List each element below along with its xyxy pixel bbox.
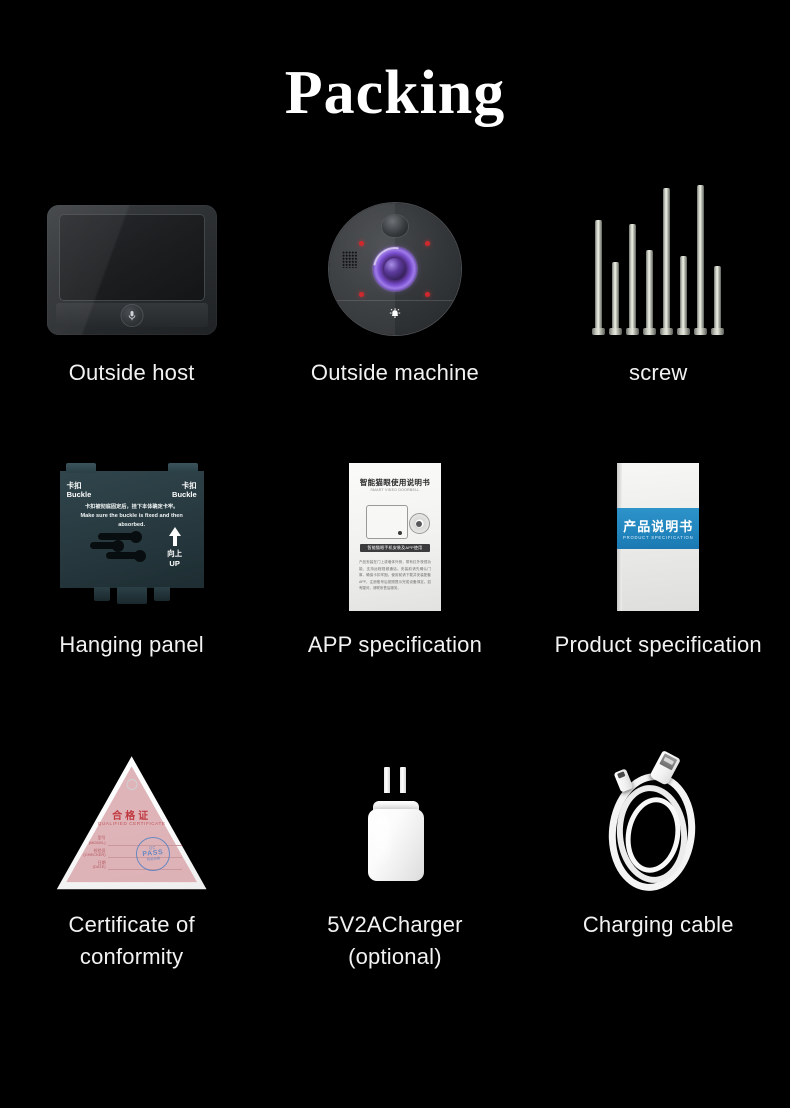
spec-booklet-icon: 产品说明书 PRODUCT SPECIFICATION [617,463,699,611]
certificate-title-cn: 合格证 [54,807,210,822]
up-arrow-icon [169,527,181,536]
item-product-specification: 产品说明书 PRODUCT SPECIFICATION Product spec… [527,436,790,660]
keyhole-slots [90,531,156,563]
app-specification-art: 智能猫眼使用说明书 SMART VIDEO DOORBELL 智能猫眼手机安装及… [280,436,510,611]
monitor-display [60,215,204,300]
booklet-title: 智能猫眼使用说明书 [349,477,441,488]
item-screw: screw [527,160,790,388]
item-caption: 5V2ACharger (optional) [327,909,463,971]
up-label: 向上 UP [160,549,190,568]
mounting-bracket-icon: 卡扣 Buckle 卡扣 Buckle 卡扣被彻底固定后，挂下本体确定卡牢。 M… [52,461,212,611]
item-caption: Outside host [69,357,195,388]
outside-host-art [17,160,247,335]
stamp-cn-text: 检验合格 [146,858,160,863]
grid-row-2: 卡扣 Buckle 卡扣 Buckle 卡扣被彻底固定后，挂下本体确定卡牢。 M… [0,436,790,660]
booklet-title-en: PRODUCT SPECIFICATION [617,535,699,540]
buckle-label-right: 卡扣 Buckle [172,481,197,499]
item-caption: Product specification [555,629,762,660]
certificate-field-label: 型号 (MODEL) [82,836,108,845]
bracket-tab [66,463,96,473]
charging-cable-art [543,718,773,893]
booklet-title-band: 产品说明书 PRODUCT SPECIFICATION [617,508,699,549]
camera-diagram-icon [409,513,430,534]
usb-cable-icon [583,743,733,893]
charger-prong [400,767,406,793]
booklet-body-text: 产品安装在门上或墙体外侧，带有红外夜视功能，支持远程视频通话。安装前请先确认门厚… [359,559,431,591]
certificate-field-label: 检验员 (CHECKER) [82,849,108,858]
keyhole-slot [106,552,142,559]
device-diagram-icon [366,505,408,539]
item-caption: Certificate of conformity [69,909,195,971]
grid-row-3: 合格证 QUALIFIED CERTIFICATE 型号 (MODEL) 检验员… [0,718,790,971]
ir-led [359,241,364,246]
item-app-specification: 智能猫眼使用说明书 SMART VIDEO DOORBELL 智能猫眼手机安装及… [263,436,526,660]
screw-item [646,250,654,335]
packing-infographic: Packing [0,0,790,1108]
charger-prong [384,767,390,793]
bracket-foot-center [117,587,147,604]
certificate-field-label: 日期 (DATE) [82,861,108,870]
instruction-cn: 卡扣被彻底固定后，挂下本体确定卡牢。 [69,504,195,512]
screw-item [612,262,620,335]
speaker-grille-icon [342,251,357,268]
bracket-body: 卡扣 Buckle 卡扣 Buckle 卡扣被彻底固定后，挂下本体确定卡牢。 M… [60,471,204,588]
screw-item [714,266,722,335]
screw-art [543,160,773,335]
item-charger: 5V2ACharger (optional) [263,718,526,971]
hanging-panel-art: 卡扣 Buckle 卡扣 Buckle 卡扣被彻底固定后，挂下本体确定卡牢。 M… [17,436,247,611]
item-caption: screw [629,357,687,388]
screw-item [629,224,637,335]
pir-sensor-icon [382,215,408,237]
camera-lens-icon [373,247,417,291]
grid-row-1: Outside host [0,160,790,388]
booklet-bar-text: 智能猫眼手机安装及APP使用 [360,545,430,551]
item-caption: Charging cable [583,909,734,940]
up-arrow-stem [173,536,177,546]
ir-led [425,241,430,246]
charger-art [280,718,510,893]
ir-led [425,292,430,297]
certificate-triangle-icon: 合格证 QUALIFIED CERTIFICATE 型号 (MODEL) 检验员… [54,753,210,893]
bracket-tab [168,463,198,473]
microphone-icon [121,305,142,326]
screw-item [680,256,688,335]
ir-led [359,292,364,297]
screw-item [697,185,705,335]
bracket-foot [154,587,170,601]
certificate-title-en: QUALIFIED CERTIFICATE [54,821,210,826]
booklet-subtitle: SMART VIDEO DOORBELL [349,488,441,492]
bracket-foot [94,587,110,601]
item-charging-cable: Charging cable [527,718,790,971]
manual-booklet-icon: 智能猫眼使用说明书 SMART VIDEO DOORBELL 智能猫眼手机安装及… [349,463,441,611]
buckle-label-left: 卡扣 Buckle [67,481,92,499]
lens-highlight [364,238,425,299]
booklet-section-bar: 智能猫眼手机安装及APP使用 [360,544,430,552]
booklet-title-cn: 产品说明书 [617,516,699,535]
monitor-screen-icon [47,205,217,335]
screws-icon [571,163,746,335]
item-caption: APP specification [308,629,482,660]
certificate-hang-hole [126,779,137,790]
screw-item [595,220,603,335]
certificate-art: 合格证 QUALIFIED CERTIFICATE 型号 (MODEL) 检验员… [17,718,247,893]
doorbell-icon [387,306,402,321]
wall-charger-icon [340,753,450,893]
product-grid: Outside host [0,160,790,972]
keyhole-slot [90,542,120,549]
item-certificate-of-conformity: 合格证 QUALIFIED CERTIFICATE 型号 (MODEL) 检验员… [0,718,263,971]
item-outside-host: Outside host [0,160,263,388]
item-caption: Outside machine [311,357,479,388]
product-specification-art: 产品说明书 PRODUCT SPECIFICATION [543,436,773,611]
screw-item [663,188,671,335]
page-title: Packing [0,62,790,124]
charger-body [368,809,424,881]
bracket-instructions: 卡扣被彻底固定后，挂下本体确定卡牢。 Make sure the buckle … [69,504,195,530]
item-hanging-panel: 卡扣 Buckle 卡扣 Buckle 卡扣被彻底固定后，挂下本体确定卡牢。 M… [0,436,263,660]
outside-machine-art [280,160,510,335]
round-camera-icon [329,203,461,335]
item-outside-machine: Outside machine [263,160,526,388]
up-direction-marker: 向上 UP [160,527,190,568]
item-caption: Hanging panel [59,629,204,660]
